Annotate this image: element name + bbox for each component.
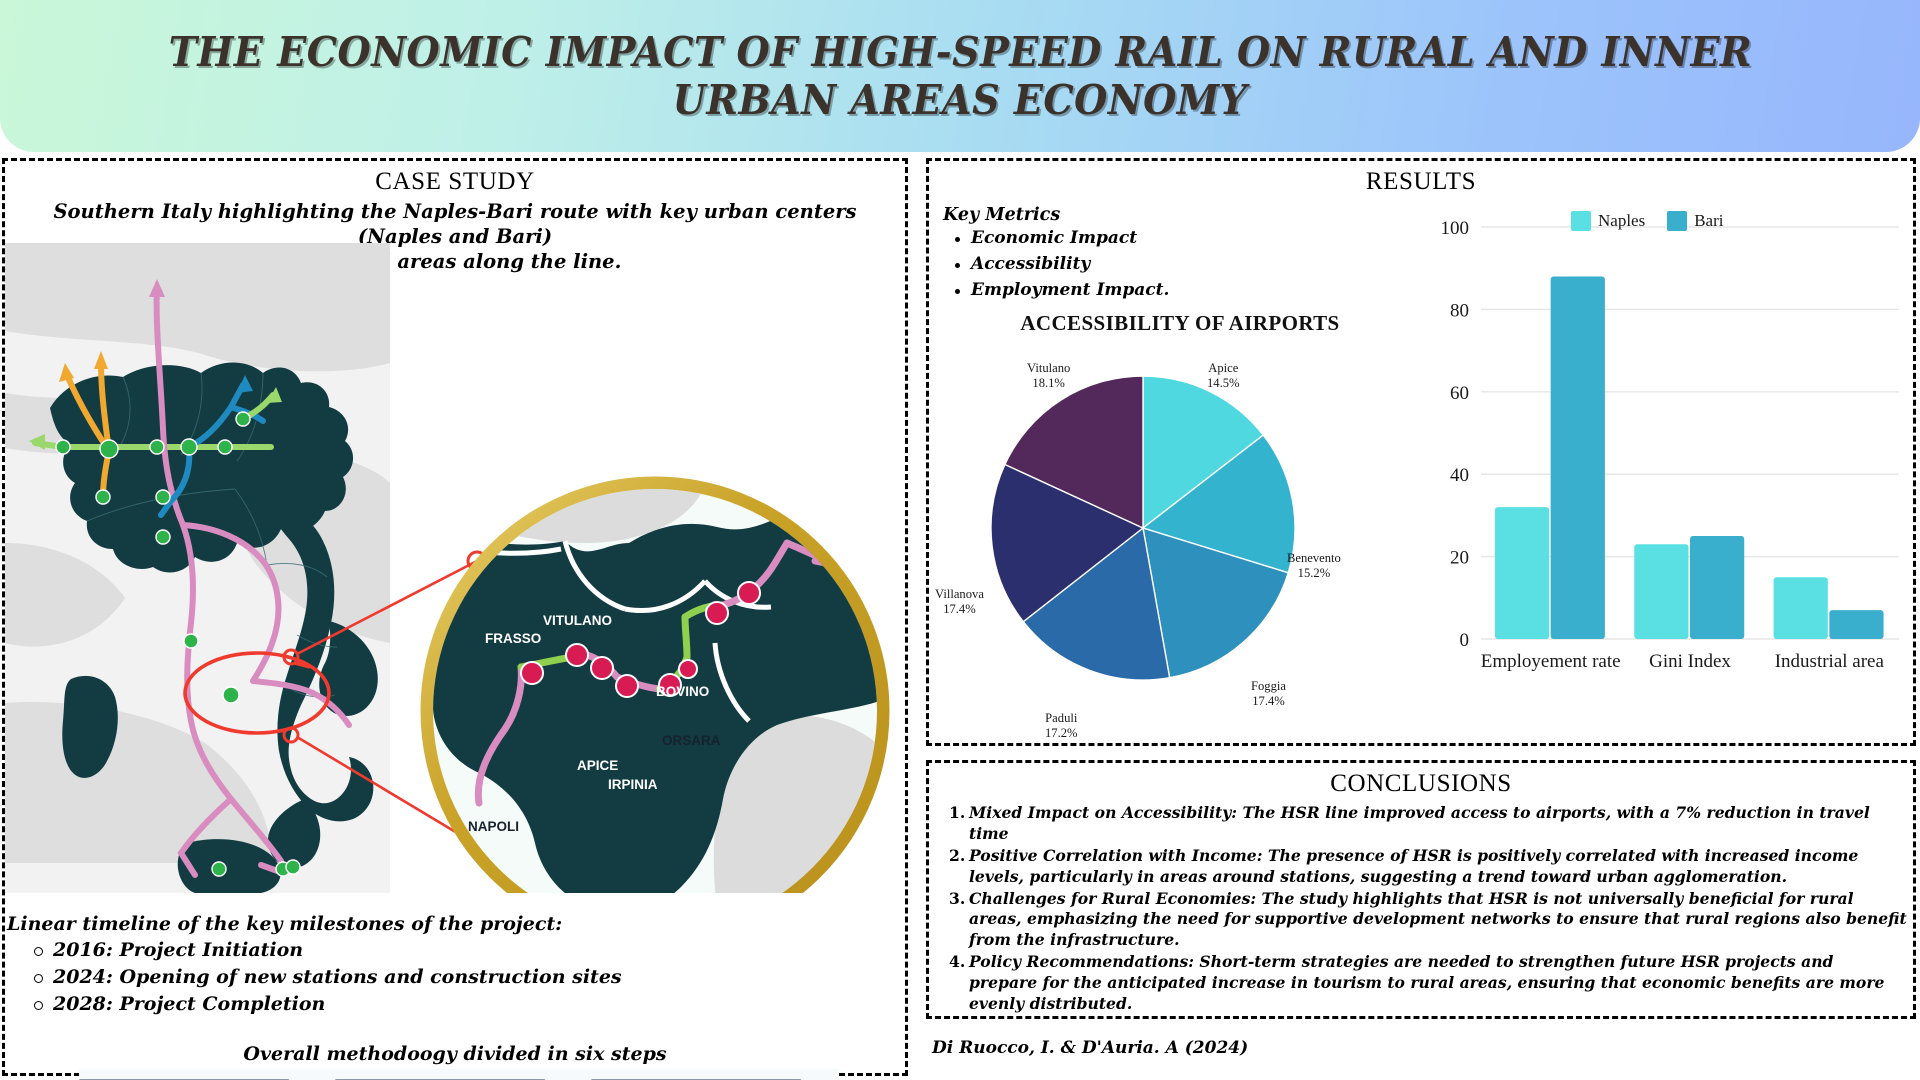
pie-chart-title: ACCESSIBILITY OF AIRPORTS <box>935 311 1425 336</box>
key-metrics-list: Economic Impact Accessibility Employment… <box>943 226 1203 303</box>
map-label-napoli: NAPOLI <box>468 819 519 834</box>
x-axis-tick-label: Employement rate <box>1481 651 1621 672</box>
methodology-step-3: Step3 Identification of dependent variab… <box>591 1075 839 1080</box>
map-label-bovino: BOVINO <box>656 684 709 699</box>
conclusion-item: Positive Correlation with Income: The pr… <box>939 846 1907 888</box>
case-study-title: CASE STUDY <box>5 161 905 196</box>
y-axis-tick-label: 40 <box>1450 465 1469 486</box>
poster-canvas: THE ECONOMIC IMPACT OF HIGH-SPEED RAIL O… <box>0 0 1920 1080</box>
conclusions-list: Mixed Impact on Accessibility: The HSR l… <box>939 803 1907 1016</box>
conclusions-panel: CONCLUSIONS Mixed Impact on Accessibilit… <box>926 760 1916 1019</box>
bar <box>1495 507 1549 639</box>
timeline-item: 2028: Project Completion <box>53 991 905 1018</box>
conclusion-item: Policy Recommendations: Short-term strat… <box>939 952 1907 1015</box>
conclusions-title: CONCLUSIONS <box>929 763 1913 798</box>
y-axis-tick-label: 80 <box>1450 300 1469 321</box>
timeline-item: 2024: Opening of new stations and constr… <box>53 964 905 991</box>
methodology-step-1: Step 1 literature review, analysis, gap … <box>79 1075 327 1080</box>
methodology-row-1: Step 1 literature review, analysis, gap … <box>79 1075 839 1080</box>
pie-slice-label: Vitulano18.1% <box>1027 361 1070 391</box>
timeline-heading: Linear timeline of the key milestones of… <box>5 913 905 935</box>
pie-chart <box>935 336 1425 726</box>
pie-slice-value: 14.5% <box>1207 376 1240 391</box>
results-title: RESULTS <box>929 161 1913 196</box>
map-label-vitulano: VITULANO <box>543 613 612 628</box>
timeline-item: 2016: Project Initiation <box>53 937 905 964</box>
legend-label: Naples <box>1598 211 1645 231</box>
case-study-panel: CASE STUDY Southern Italy highlighting t… <box>2 158 908 1076</box>
key-metrics-heading: Key Metrics <box>943 205 1203 225</box>
y-axis-tick-label: 100 <box>1441 218 1470 239</box>
map-label-orsara: ORSARA <box>662 733 721 748</box>
bar <box>1551 276 1605 639</box>
x-axis-tick-label: Gini Index <box>1649 651 1731 672</box>
pie-slice-label: Apice14.5% <box>1207 361 1240 391</box>
map-label-irpinia: IRPINIA <box>608 777 658 792</box>
conclusion-item: Challenges for Rural Economies: The stud… <box>939 889 1907 952</box>
map-illustration: NAPOLI FRASSO VITULANO APICE IRPINIA ORS… <box>5 243 905 893</box>
bar <box>1829 610 1883 639</box>
map-label-frasso: FRASSO <box>485 631 541 646</box>
pie-slice-label: Paduli17.2% <box>1045 711 1078 741</box>
timeline-list: 2016: Project Initiation 2024: Opening o… <box>5 937 905 1018</box>
pie-slice-name: Apice <box>1207 361 1240 376</box>
pie-slice-value: 15.2% <box>1287 566 1341 581</box>
poster-title-line-2: URBAN AREAS ECONOMY <box>673 76 1248 124</box>
bar <box>1634 544 1688 639</box>
legend-item: Naples <box>1571 211 1645 231</box>
key-metric-item: Employment Impact. <box>971 278 1203 304</box>
results-panel: RESULTS Key Metrics Economic Impact Acce… <box>926 158 1916 746</box>
pie-slice-value: 17.2% <box>1045 726 1078 741</box>
pie-slice-label: Villanova17.4% <box>935 587 984 617</box>
bar <box>1774 577 1828 639</box>
bar-chart-block: NaplesBari 020406080100Employement rateG… <box>1421 201 1913 729</box>
pie-slice-label: Foggia17.4% <box>1251 679 1286 709</box>
legend-swatch <box>1667 211 1687 231</box>
pie-slice-label: Benevento15.2% <box>1287 551 1341 581</box>
pie-slice-name: Paduli <box>1045 711 1078 726</box>
pie-slice-value: 17.4% <box>935 602 984 617</box>
legend-swatch <box>1571 211 1591 231</box>
pie-chart-block: ACCESSIBILITY OF AIRPORTS Apice14.5%Bene… <box>935 311 1425 731</box>
project-timeline: Linear timeline of the key milestones of… <box>5 913 905 1018</box>
poster-title-line-1: THE ECONOMIC IMPACT OF HIGH-SPEED RAIL O… <box>168 28 1752 76</box>
conclusion-item: Mixed Impact on Accessibility: The HSR l… <box>939 803 1907 845</box>
key-metrics-block: Key Metrics Economic Impact Accessibilit… <box>943 205 1203 303</box>
legend-item: Bari <box>1667 211 1723 231</box>
citation-text: Di Ruocco, I. & D'Auria. A (2024) <box>932 1038 1248 1058</box>
poster-header: THE ECONOMIC IMPACT OF HIGH-SPEED RAIL O… <box>0 0 1920 152</box>
pie-slice-name: Foggia <box>1251 679 1286 694</box>
pie-slice-name: Vitulano <box>1027 361 1070 376</box>
methodology-title: Overall methodoogy divided in six steps <box>5 1043 905 1065</box>
pie-slice-value: 18.1% <box>1027 376 1070 391</box>
legend-label: Bari <box>1694 211 1723 231</box>
y-axis-tick-label: 0 <box>1460 630 1470 651</box>
pie-slice-name: Benevento <box>1287 551 1341 566</box>
bar-chart: 020406080100Employement rateGini IndexIn… <box>1421 201 1913 701</box>
x-axis-tick-label: Industrial area <box>1775 651 1885 672</box>
bar <box>1690 536 1744 639</box>
y-axis-tick-label: 20 <box>1450 548 1469 569</box>
pie-slice-name: Villanova <box>935 587 984 602</box>
map-label-apice: APICE <box>577 758 618 773</box>
methodology-diagram: Step 1 literature review, analysis, gap … <box>79 1069 839 1080</box>
case-study-map: NAPOLI FRASSO VITULANO APICE IRPINIA ORS… <box>5 243 905 893</box>
key-metric-item: Economic Impact <box>971 226 1203 252</box>
methodology-step-2: Step 2 Dataset analysis <box>335 1075 583 1080</box>
bar-chart-legend: NaplesBari <box>1571 211 1724 231</box>
key-metric-item: Accessibility <box>971 252 1203 278</box>
pie-slice-value: 17.4% <box>1251 694 1286 709</box>
y-axis-tick-label: 60 <box>1450 383 1469 404</box>
